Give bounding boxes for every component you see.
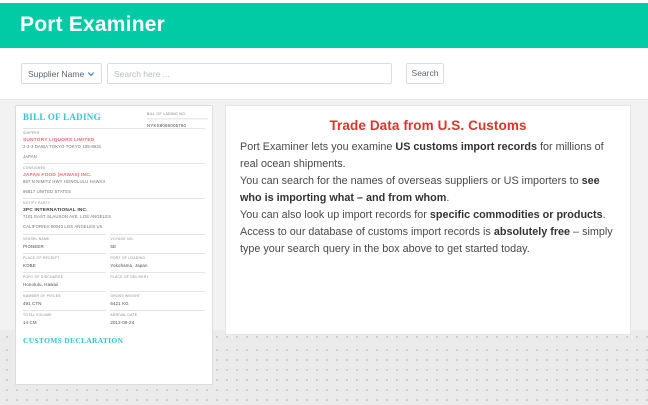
shipper-block: SHIPPER SUNTORY LIQUORS LIMITED 2-3-3 DA…	[23, 128, 205, 159]
field-label: PORT OF DISCHARGE	[23, 272, 106, 279]
paragraph-3-emphasis: specific commodities or products	[430, 209, 603, 221]
search-button[interactable]: Search	[406, 63, 444, 84]
chevron-down-icon	[87, 70, 95, 78]
site-header: Port Examiner	[0, 3, 648, 48]
document-field-row: TOTAL VOLUME 14 CM ARRIVAL DATE 2012-09-…	[23, 310, 205, 329]
field-label: NUMBER OF PIECES	[23, 291, 106, 298]
customs-declaration-title: CUSTOMS DECLARATION	[23, 336, 205, 345]
intro-content-panel: Trade Data from U.S. Customs Port Examin…	[225, 105, 631, 335]
field-label: ARRIVAL DATE	[110, 310, 205, 317]
field-label: PORT OF LOADING	[110, 253, 205, 260]
field-label: PLACE OF RECEIPT	[23, 253, 106, 260]
bl-number-label: BILL OF LADING NO.	[147, 112, 208, 119]
bill-of-lading-number: BILL OF LADING NO. NYKS8066005760	[147, 112, 205, 128]
notify-party-label: NOTIFY PARTY	[23, 198, 205, 205]
paragraph-3-text-a: You can also look up import records for	[240, 209, 430, 221]
shipper-address-line-1: 2-3-3 DAIBA TOKYO TOKYO 135-8631	[23, 144, 205, 150]
field-value: 2012-09-24	[110, 317, 205, 329]
document-field-row: NUMBER OF PIECES 491 CTN GROSS WEIGHT 64…	[23, 291, 205, 310]
field-value	[110, 279, 205, 291]
paragraph-2-text-a: You can search for the names of overseas…	[240, 175, 582, 187]
document-field-row: VESSEL NAME PIONEER VOYAGE NO. 5E	[23, 234, 205, 253]
notify-party-address-line-2: CALIFORNIA 90040 LOS ANGELES US	[23, 224, 205, 230]
bl-number-value: NYKS8066005760	[147, 123, 205, 128]
bill-of-lading-document: BILL OF LADING BILL OF LADING NO. NYKS80…	[15, 105, 213, 385]
search-form: Supplier Name Search	[21, 63, 444, 84]
search-input[interactable]	[107, 63, 392, 84]
field-label: VOYAGE NO.	[110, 234, 205, 241]
field-label: VESSEL NAME	[23, 234, 106, 241]
notify-party-address-line-1: 7101 EAST SLAUSON AVE. LOS ANGELES	[23, 214, 205, 220]
consignee-address-line-2: 96817 UNITED STATES	[23, 189, 205, 195]
field-value: 491 CTN	[23, 298, 106, 310]
search-bar: Supplier Name Search	[0, 48, 648, 100]
field-value: 6421 KG	[110, 298, 205, 310]
field-value: Honolulu, Hawaii	[23, 279, 106, 291]
page-title: Port Examiner	[20, 12, 165, 38]
search-category-label: Supplier Name	[22, 69, 84, 79]
customs-line	[23, 353, 205, 358]
customs-declaration-body	[23, 348, 205, 358]
consignee-address-line-1: 887 N NIMITZ HWY HONOLULU HAWAII	[23, 179, 205, 185]
consignee-block: CONSIGNEE JAPAN FOOD (HAWAII) INC. 887 N…	[23, 163, 205, 194]
field-value: KOBE	[23, 260, 106, 272]
shipper-address-line-2: JAPAN	[23, 154, 205, 160]
field-value: 14 CM	[23, 317, 106, 329]
content-paragraph-3: You can also look up import records for …	[240, 207, 616, 224]
content-paragraph-4: Access to our database of customs import…	[240, 224, 616, 258]
field-label: TOTAL VOLUME	[23, 310, 106, 317]
content-heading: Trade Data from U.S. Customs	[240, 118, 616, 133]
paragraph-4-text-a: Access to our database of customs import…	[240, 226, 494, 238]
field-value: PIONEER	[23, 241, 106, 253]
paragraph-4-emphasis: absolutely free	[494, 226, 570, 238]
paragraph-1-emphasis: US customs import records	[395, 141, 537, 153]
document-field-row: PLACE OF RECEIPT KOBE PORT OF LOADING Yo…	[23, 253, 205, 272]
field-value: 5E	[110, 241, 205, 253]
page-root: Port Examiner Supplier Name Search BILL …	[0, 0, 648, 405]
field-label: GROSS WEIGHT	[110, 291, 205, 298]
field-label: PLACE OF DELIVERY	[110, 272, 205, 279]
paragraph-1-text-a: Port Examiner lets you examine	[240, 141, 395, 153]
notify-party-block: NOTIFY PARTY 3PC INTERNATIONAL INC. 7101…	[23, 198, 205, 229]
shipper-label: SHIPPER	[23, 128, 205, 135]
field-value: Yokohama, Japan	[110, 260, 205, 272]
paragraph-3-text-c: .	[603, 209, 606, 221]
document-field-row: PORT OF DISCHARGE Honolulu, Hawaii PLACE…	[23, 272, 205, 291]
paragraph-2-text-c: .	[446, 192, 449, 204]
search-category-select[interactable]: Supplier Name	[21, 63, 102, 84]
content-paragraph-1: Port Examiner lets you examine US custom…	[240, 139, 616, 173]
consignee-label: CONSIGNEE	[23, 163, 205, 170]
content-paragraph-2: You can search for the names of overseas…	[240, 173, 616, 207]
